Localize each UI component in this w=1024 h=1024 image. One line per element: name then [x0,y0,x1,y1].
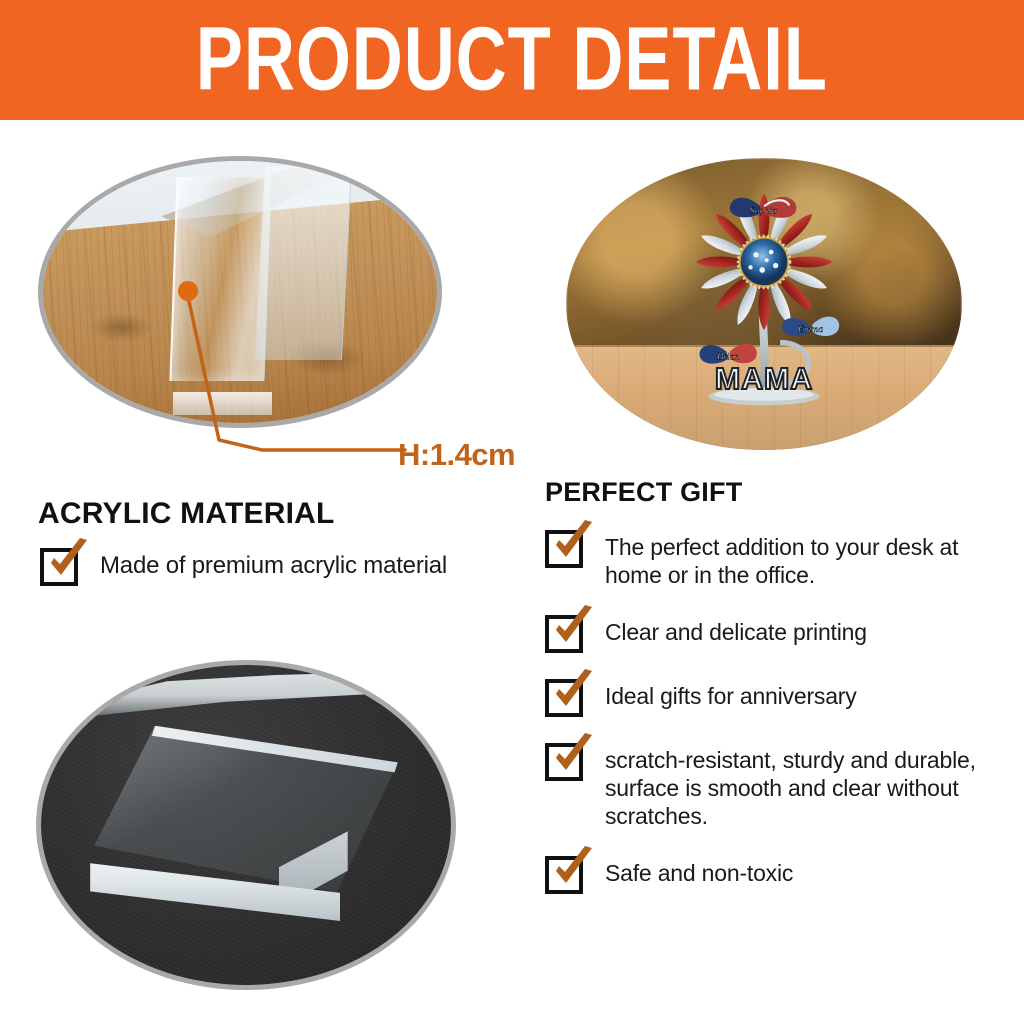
checkbox-checked-icon[interactable] [545,526,587,568]
feature-item: Made of premium acrylic material [40,544,520,586]
header-banner: PRODUCT DETAIL [0,0,1024,120]
feature-text: Ideal gifts for anniversary [605,675,857,710]
butterfly-emma: Emma [782,316,839,335]
feature-text: Safe and non-toxic [605,852,793,887]
feature-list-perfect-gift: The perfect addition to your desk at hom… [545,526,1005,916]
section-heading-acrylic-material: ACRYLIC MATERIAL [38,497,335,531]
ornament-base-text: MAMA [715,362,813,396]
feature-item: scratch-resistant, sturdy and durable, s… [545,739,1005,830]
feature-text: Made of premium acrylic material [100,544,447,580]
product-detail-page: PRODUCT DETAIL H:1.4cm [0,0,1024,1024]
checkbox-checked-icon[interactable] [40,544,82,586]
checkbox-checked-icon[interactable] [545,611,587,653]
checkbox-checked-icon[interactable] [545,852,587,894]
photo-ornament: Sophia Emma Brian MAMA [566,158,962,450]
feature-item: The perfect addition to your desk at hom… [545,526,1005,589]
feature-list-acrylic-material: Made of premium acrylic material [40,544,520,608]
svg-text:Emma: Emma [797,323,823,334]
feature-item: Clear and delicate printing [545,611,1005,653]
svg-text:Sophia: Sophia [749,205,776,216]
wood-knot-icon [90,313,153,342]
checkbox-checked-icon[interactable] [545,675,587,717]
svg-text:Brian: Brian [717,351,739,362]
sunflower-ornament-icon: Sophia Emma Brian MAMA [653,176,875,445]
page-title: PRODUCT DETAIL [196,15,828,105]
photo-acrylic-block [36,660,456,990]
section-heading-perfect-gift: PERFECT GIFT [545,477,742,508]
feature-text: scratch-resistant, sturdy and durable, s… [605,739,1005,830]
feature-text: The perfect addition to your desk at hom… [605,526,1005,589]
dimension-label: H:1.4cm [398,437,515,473]
checkbox-checked-icon[interactable] [545,739,587,781]
dimension-leader-line [150,270,430,475]
butterfly-brian: Brian [700,343,757,363]
feature-text: Clear and delicate printing [605,611,867,646]
feature-item: Safe and non-toxic [545,852,1005,894]
feature-item: Ideal gifts for anniversary [545,675,1005,717]
dimension-marker-dot [178,281,198,301]
